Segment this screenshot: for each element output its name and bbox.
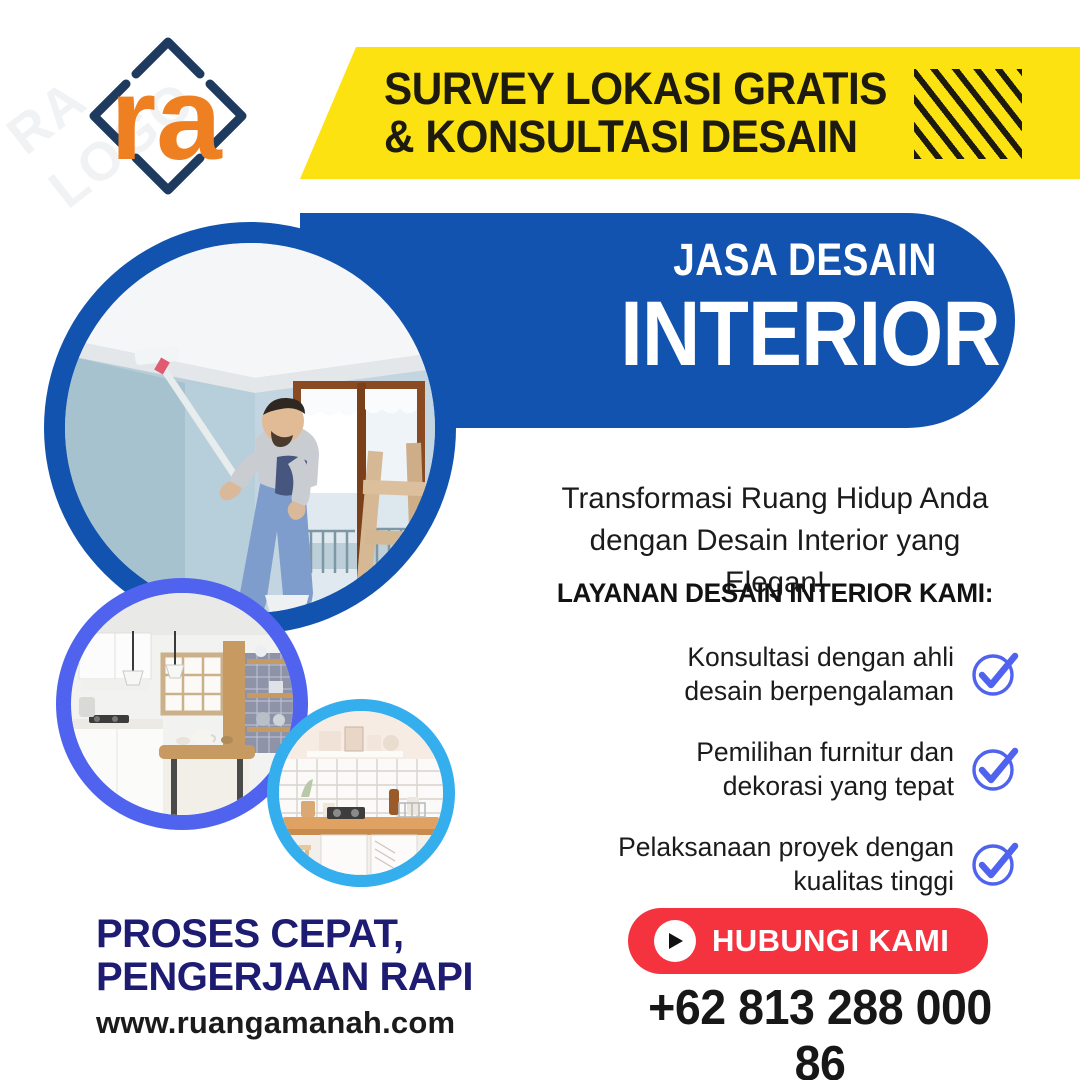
svg-text:ra: ra <box>110 53 223 185</box>
poster-canvas: RA LOGO ra SURVEY LOKASI GRATIS & KONSUL… <box>0 0 1080 1080</box>
headline-line1: JASA DESAIN <box>624 237 985 282</box>
services-heading: LAYANAN DESAIN INTERIOR KAMI: <box>547 578 1003 609</box>
service-1-line2: desain berpengalaman <box>684 676 954 706</box>
contact-us-label: HUBUNGI KAMI <box>712 923 949 959</box>
list-item: Konsultasi dengan ahli desain berpengala… <box>560 640 1020 709</box>
photo-modern-kitchen <box>71 593 293 815</box>
photo-main-painter <box>65 243 435 613</box>
service-3-line2: kualitas tinggi <box>793 866 954 896</box>
service-2-line1: Pemilihan furnitur dan <box>696 737 954 767</box>
diagonal-stripes-decoration <box>914 69 1022 159</box>
promo-banner-text: SURVEY LOKASI GRATIS & KONSULTASI DESAIN <box>384 65 887 160</box>
slogan: PROSES CEPAT, PENGERJAAN RAPI <box>96 913 473 999</box>
promo-banner-line1: SURVEY LOKASI GRATIS <box>384 63 887 114</box>
check-circle-icon <box>968 743 1020 795</box>
list-item: Pelaksanaan proyek dengan kualitas tingg… <box>560 830 1020 899</box>
slogan-line2: PENGERJAAN RAPI <box>96 955 473 999</box>
brand-logo: ra <box>78 26 258 206</box>
phone-number[interactable]: +62 813 288 000 86 <box>630 980 1010 1080</box>
service-1-line1: Konsultasi dengan ahli <box>687 642 954 672</box>
photo-circle-small <box>267 699 455 887</box>
service-item-text: Pelaksanaan proyek dengan kualitas tingg… <box>618 830 954 899</box>
services-list: Konsultasi dengan ahli desain berpengala… <box>560 640 1020 925</box>
photo-circle-main <box>44 222 456 634</box>
check-circle-icon <box>968 838 1020 890</box>
promo-banner-line2: & KONSULTASI DESAIN <box>384 111 858 162</box>
website-url[interactable]: www.ruangamanah.com <box>96 1005 455 1041</box>
headline-text: JASA DESAIN INTERIOR <box>595 237 1015 382</box>
service-item-text: Pemilihan furnitur dan dekorasi yang tep… <box>696 735 954 804</box>
service-2-line2: dekorasi yang tepat <box>723 771 954 801</box>
play-icon <box>654 920 696 962</box>
service-item-text: Konsultasi dengan ahli desain berpengala… <box>684 640 954 709</box>
promo-banner: SURVEY LOKASI GRATIS & KONSULTASI DESAIN <box>300 47 1080 179</box>
slogan-line1: PROSES CEPAT, <box>96 912 404 956</box>
headline-line2: INTERIOR <box>620 288 990 382</box>
list-item: Pemilihan furnitur dan dekorasi yang tep… <box>560 735 1020 804</box>
photo-cozy-kitchen <box>279 711 443 875</box>
contact-us-button[interactable]: HUBUNGI KAMI <box>628 908 988 974</box>
tagline-line1: Transformasi Ruang Hidup Anda <box>562 482 989 515</box>
service-3-line1: Pelaksanaan proyek dengan <box>618 832 954 862</box>
check-circle-icon <box>968 648 1020 700</box>
